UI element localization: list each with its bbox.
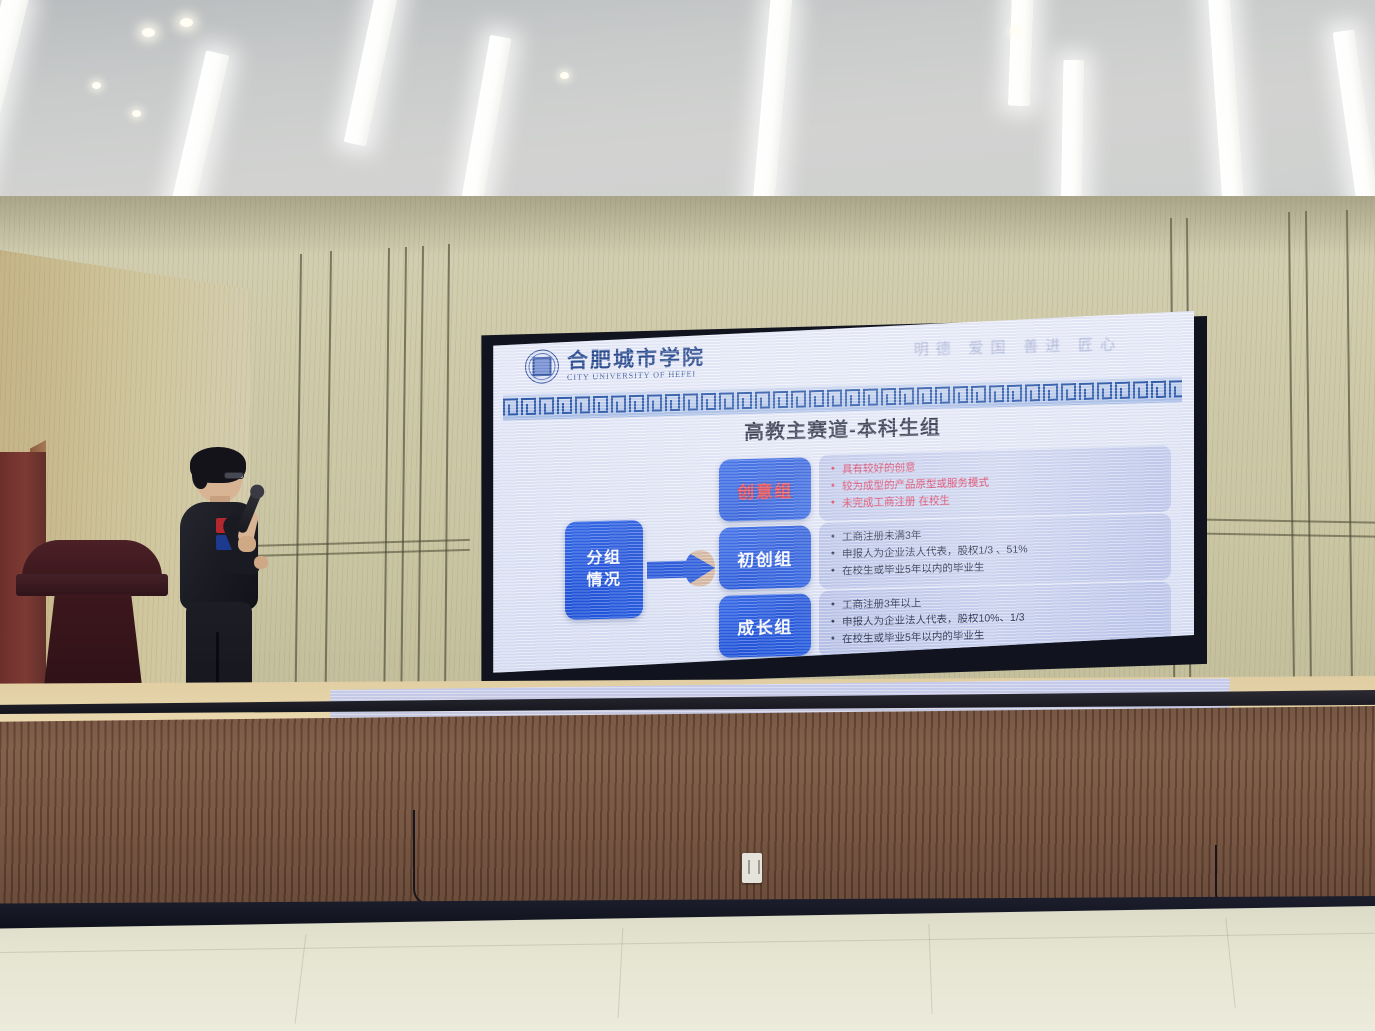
source-node-line-2: 情况	[586, 571, 621, 589]
meander-unit	[1061, 383, 1076, 400]
meander-unit	[1079, 383, 1094, 400]
ceiling-light-strip	[344, 0, 400, 147]
group-bullets-startup: 工商注册未满3年 申报人为企业法人代表，股权1/3 、51% 在校生或毕业5年以…	[819, 514, 1171, 590]
power-outlet[interactable]	[742, 853, 762, 883]
group-node-startup: 初创组	[719, 525, 811, 589]
floor-tile-line	[928, 924, 932, 1014]
meander-unit	[1115, 382, 1130, 399]
school-motto-calligraphy: 明德 爱国 善进 匠心	[914, 333, 1122, 360]
university-emblem-icon	[525, 349, 559, 384]
meander-unit	[755, 391, 770, 408]
source-node-line-1: 分组	[586, 550, 621, 568]
meander-unit	[575, 396, 590, 413]
group-node-creative: 创意组	[719, 457, 811, 521]
meander-unit	[1169, 380, 1182, 397]
ceiling-light-strip	[1008, 0, 1034, 106]
meander-unit	[899, 387, 914, 404]
meander-unit	[953, 386, 968, 403]
ceiling-light-strip	[1333, 29, 1375, 210]
meander-unit	[701, 393, 716, 410]
meander-unit	[791, 390, 806, 407]
presenter-hand-2	[254, 556, 268, 569]
meander-unit	[863, 388, 878, 405]
led-video-wall[interactable]: 合肥城市学院 CITY UNIVERSITY OF HEFEI 明德 爱国 善进…	[489, 311, 1194, 673]
meander-unit	[629, 395, 644, 412]
arrow-shaft	[647, 561, 689, 579]
meander-unit	[521, 398, 536, 415]
floor-tile-line	[0, 933, 1375, 953]
right-arrow-icon	[647, 550, 717, 588]
university-name-cn: 合肥城市学院	[567, 346, 705, 372]
meander-unit	[683, 393, 698, 410]
meander-unit	[881, 388, 896, 405]
meander-unit	[557, 397, 572, 414]
meander-unit	[1007, 385, 1022, 402]
meander-unit	[989, 385, 1004, 402]
meander-unit	[845, 389, 860, 406]
meander-unit	[611, 395, 626, 412]
presentation-slide: 合肥城市学院 CITY UNIVERSITY OF HEFEI 明德 爱国 善进…	[503, 324, 1182, 663]
meander-unit	[737, 392, 752, 409]
meander-unit	[1133, 381, 1148, 398]
floor-tile-line	[1225, 918, 1235, 1008]
downlight	[132, 110, 141, 117]
floor-tile-line	[618, 928, 624, 1018]
meander-unit	[1097, 382, 1112, 399]
downlight	[1010, 28, 1019, 35]
group-bullets-creative: 具有较好的创意 较为成型的产品原型或服务模式 未完成工商注册 在校生	[819, 446, 1171, 522]
meander-unit	[503, 398, 518, 415]
meander-unit	[809, 390, 824, 407]
auditorium-scene: 合肥城市学院 CITY UNIVERSITY OF HEFEI 明德 爱国 善进…	[0, 0, 1375, 1031]
ceiling-light-strip	[1061, 60, 1085, 215]
meander-unit	[647, 394, 662, 411]
grouping-diagram: 分组 情况 创意组 初创组 成长组 具有较好的创意 较为成型的产品原型或服务模式…	[503, 447, 1182, 673]
meander-unit	[593, 396, 608, 413]
meander-unit	[773, 391, 788, 408]
downlight	[560, 72, 569, 79]
presenter-hand	[238, 536, 256, 552]
university-branding: 合肥城市学院 CITY UNIVERSITY OF HEFEI	[525, 345, 705, 384]
meander-unit	[665, 394, 680, 411]
meander-unit	[935, 387, 950, 404]
arrow-head	[685, 550, 715, 587]
podium-lip	[16, 574, 168, 596]
meander-unit	[1151, 381, 1166, 398]
downlight	[92, 82, 101, 89]
group-node-growth: 成长组	[719, 593, 811, 657]
cable	[413, 810, 435, 905]
glasses-icon	[224, 472, 244, 479]
ceiling-light-strip	[1207, 0, 1245, 212]
downlight	[180, 18, 193, 27]
meander-unit	[1043, 384, 1058, 401]
meander-unit	[971, 386, 986, 403]
meander-unit	[719, 392, 734, 409]
downlight	[142, 28, 155, 37]
meander-unit	[917, 387, 932, 404]
meander-unit	[827, 389, 842, 406]
meander-unit	[539, 397, 554, 414]
diagram-source-node: 分组 情况	[565, 520, 643, 620]
meander-unit	[1025, 384, 1040, 401]
